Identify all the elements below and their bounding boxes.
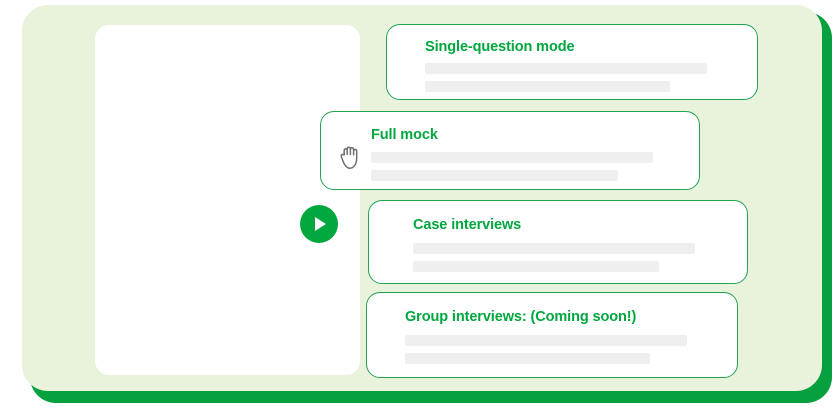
- option-card-group-interviews[interactable]: Group interviews: (Coming soon!): [366, 292, 738, 378]
- skeleton-line: [371, 170, 618, 181]
- option-card-case-interviews[interactable]: Case interviews: [368, 200, 748, 284]
- skeleton-line: [405, 353, 650, 364]
- play-icon[interactable]: [300, 205, 338, 243]
- illustration-stage: Single-question mode Full mock Case inte…: [0, 0, 838, 407]
- video-preview-panel[interactable]: [95, 25, 360, 375]
- skeleton-line: [405, 335, 687, 346]
- skeleton-line: [371, 152, 653, 163]
- card-title: Single-question mode: [425, 39, 574, 55]
- card-title: Group interviews: (Coming soon!): [405, 309, 636, 325]
- play-triangle: [315, 217, 326, 231]
- skeleton-line: [425, 81, 670, 92]
- option-card-full-mock[interactable]: Full mock: [320, 111, 700, 190]
- skeleton-line: [413, 261, 659, 272]
- skeleton-line: [413, 243, 695, 254]
- card-title: Case interviews: [413, 217, 521, 233]
- skeleton-line: [425, 63, 707, 74]
- option-card-single-question-mode[interactable]: Single-question mode: [386, 24, 758, 100]
- grab-cursor-icon: [339, 144, 365, 172]
- card-title: Full mock: [371, 127, 438, 143]
